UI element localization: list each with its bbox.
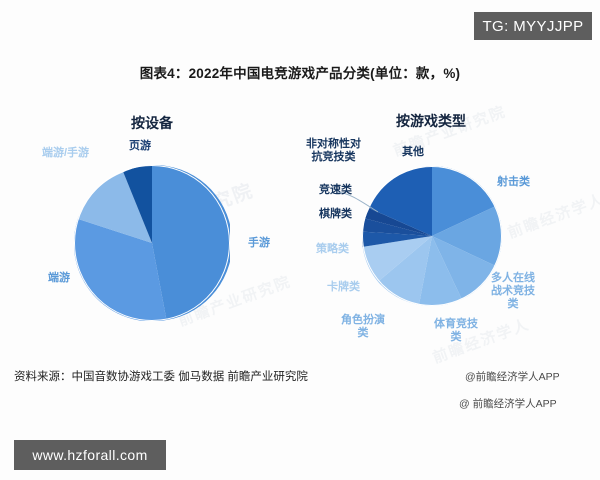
chart-page: 前瞻产业研究院 前瞻产业研究院 前瞻经济学人 前瞻产业研究院 前瞻经济学人 TG… (0, 0, 600, 480)
watermark: 前瞻经济学人 (504, 188, 600, 243)
pie-label-kapai: 卡牌类 (327, 281, 360, 294)
attribution-secondary: @ 前瞻经济学人APP (459, 396, 557, 411)
pie-slice-shouyou (152, 165, 230, 320)
pie-label-celue: 策略类 (316, 243, 349, 256)
pie-heading-genre: 按游戏类型 (396, 111, 466, 131)
pie-label-shouyou: 手游 (248, 237, 270, 250)
pie-chart-by-device (74, 165, 230, 321)
url-badge: www.hzforall.com (14, 440, 166, 470)
pie-label-yeyou: 页游 (129, 140, 151, 153)
pie-label-qita: 其他 (402, 146, 424, 159)
page-title: 图表4：2022年中国电竞游戏产品分类(单位：款，%) (0, 62, 600, 82)
pie-label-sheji: 射击类 (497, 176, 530, 189)
pie-label-duanyou: 端游 (48, 272, 70, 285)
pie-label-duanshou: 端游/手游 (42, 147, 89, 160)
pie-chart-by-genre (362, 166, 502, 306)
pie-label-juese: 角色扮演类 (341, 314, 385, 340)
tg-badge: TG: MYYJJPP (474, 12, 592, 40)
pie-label-qipai: 棋牌类 (319, 208, 352, 221)
pie-label-tiyu: 体育竞技类 (434, 318, 478, 344)
pie-label-duoren: 多人在线战术竞技类 (491, 272, 535, 311)
source-note: 资料来源：中国音数协游戏工委 伽马数据 前瞻产业研究院 (14, 368, 308, 384)
attribution-primary: @前瞻经济学人APP (465, 369, 560, 384)
pie-heading-device: 按设备 (131, 113, 173, 133)
pie-label-jingsu: 竞速类 (319, 184, 352, 197)
pie-label-feiduichen: 非对称性对抗竞技类 (306, 138, 361, 164)
